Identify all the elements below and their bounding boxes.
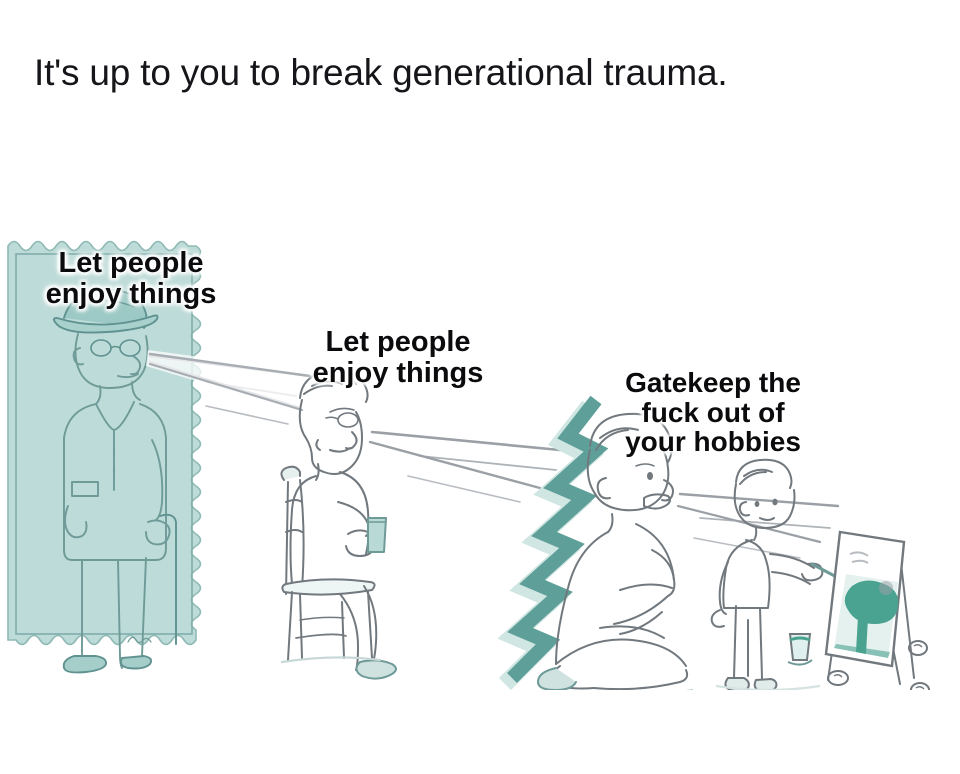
caption-gatekeep-your-hobbies: Gatekeep the fuck out of your hobbies [588,368,838,457]
caption-let-people-enjoy-things-grandfather: Let people enjoy things [18,248,244,309]
meme-title: It's up to you to break generational tra… [34,52,934,94]
pebble [909,641,927,655]
caption-let-people-enjoy-things-parent: Let people enjoy things [278,327,518,388]
pebble [828,671,848,685]
lightning-zigzag [505,400,596,684]
easel-with-painting [826,532,914,684]
meme-image: It's up to you to break generational tra… [0,0,960,774]
gaze-lines-parent [370,432,560,502]
seated-parent-figure [281,371,396,679]
